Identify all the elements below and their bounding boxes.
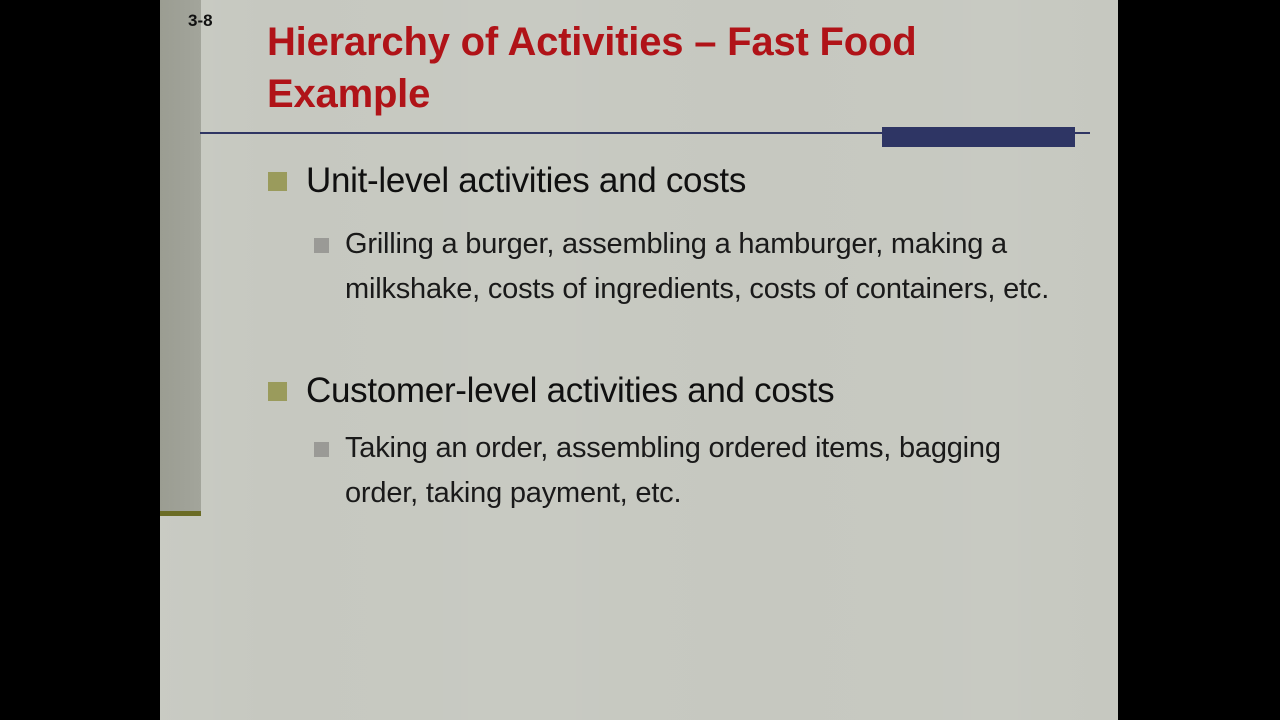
bullet-text: Unit-level activities and costs [306,161,746,200]
letterbox-left [0,0,160,720]
square-bullet-gray-icon [314,442,329,457]
square-bullet-olive-icon [268,382,287,401]
title-accent-block [882,127,1075,147]
slide-number: 3-8 [188,11,213,31]
slide-canvas: 3-8 Hierarchy of Activities – Fast Food … [160,0,1118,720]
bullet-item-level2: Grilling a burger, assembling a hamburge… [160,222,1118,312]
square-bullet-olive-icon [268,172,287,191]
bullet-text: Grilling a burger, assembling a hamburge… [345,228,1049,305]
square-bullet-gray-icon [314,238,329,253]
spacer [160,202,1118,222]
spacer [160,312,1118,370]
presentation-viewport: 3-8 Hierarchy of Activities – Fast Food … [0,0,1280,720]
bullet-item-level1: Unit-level activities and costs [160,160,1118,202]
bullet-item-level2: Taking an order, assembling ordered item… [160,426,1118,516]
slide-body: Unit-level activities and costs Grilling… [160,160,1118,516]
bullet-text: Taking an order, assembling ordered item… [345,432,1001,509]
spacer [160,412,1118,426]
bullet-text: Customer-level activities and costs [306,371,834,410]
bullet-item-level1: Customer-level activities and costs [160,370,1118,412]
letterbox-right [1118,0,1280,720]
slide-title: Hierarchy of Activities – Fast Food Exam… [267,16,1057,120]
